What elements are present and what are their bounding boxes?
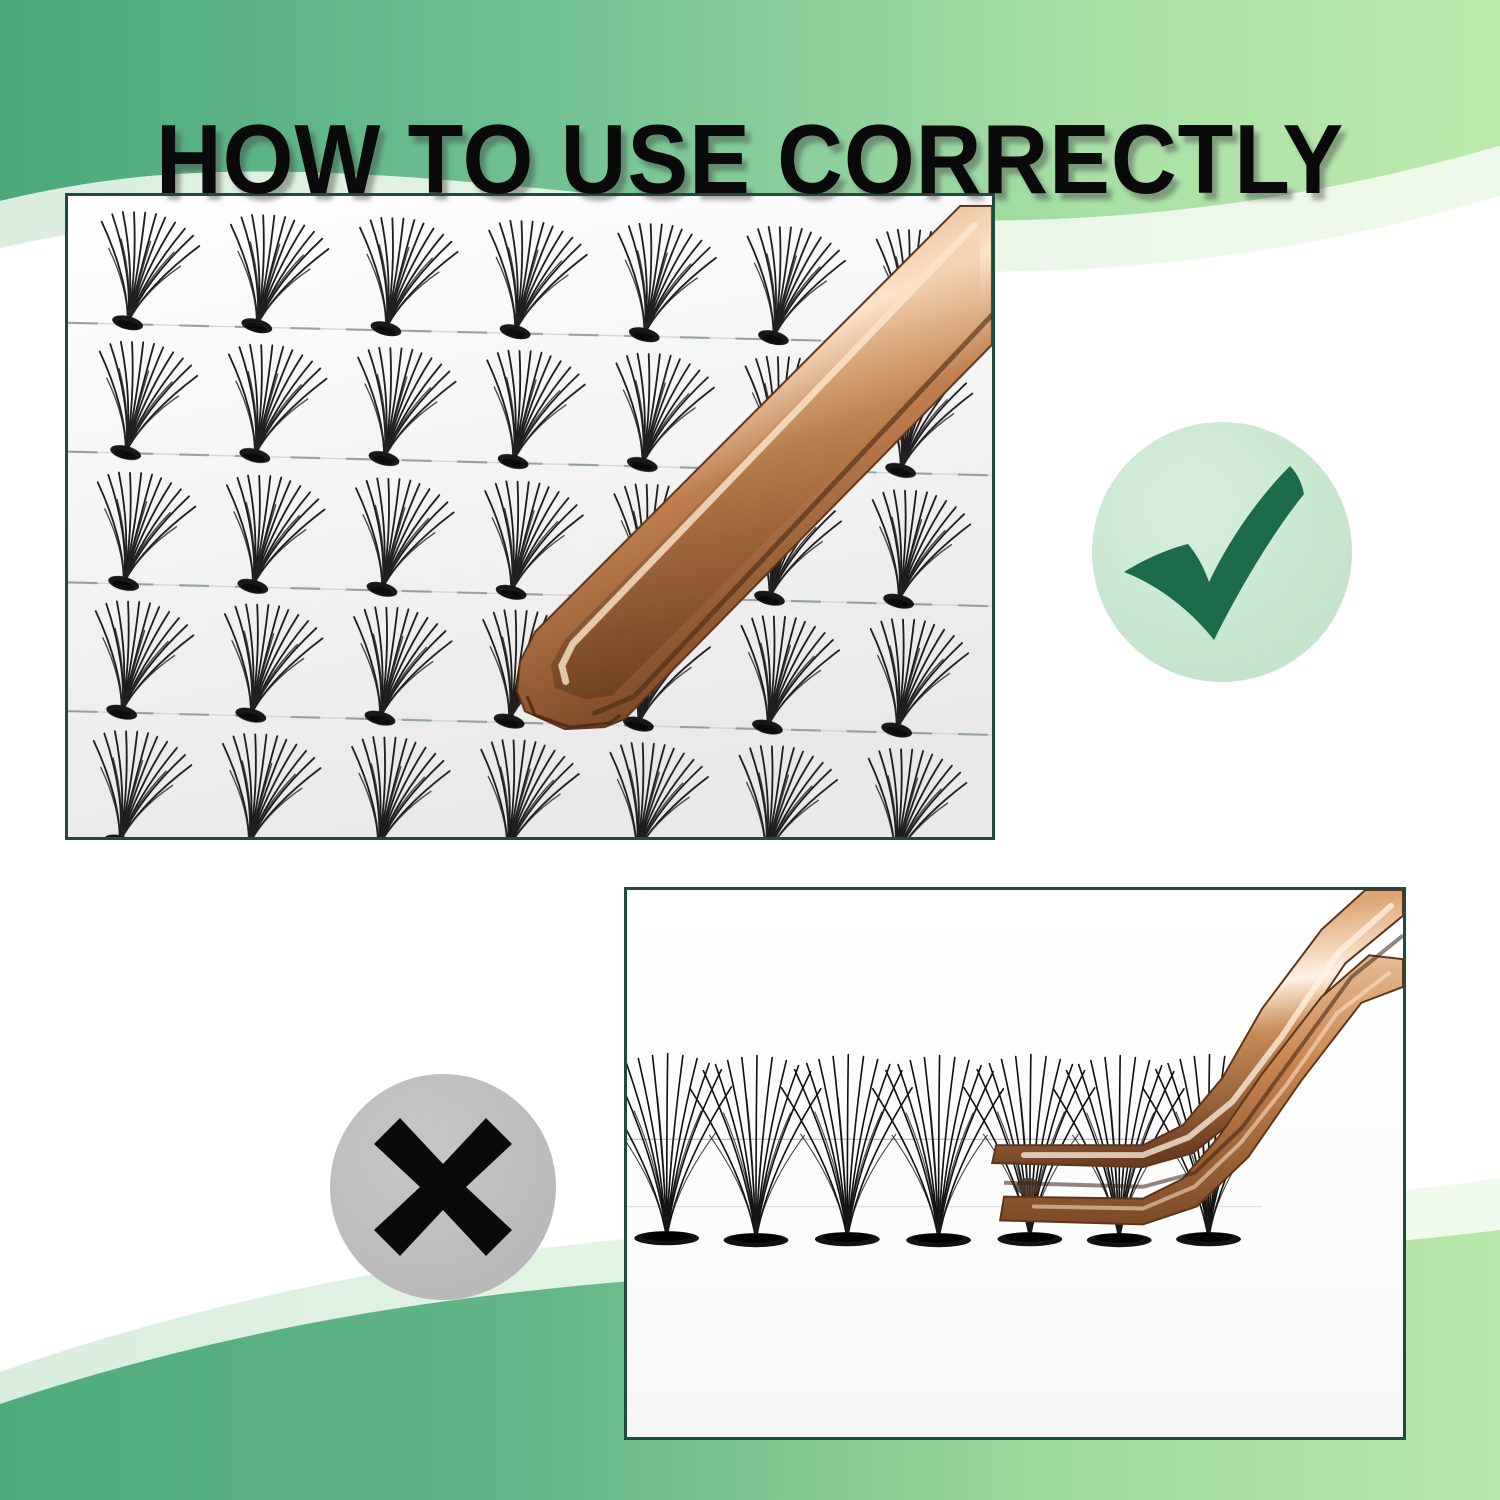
- lash-clusters-side-view: [627, 890, 1403, 1437]
- infographic-poster: HOW TO USE CORRECTLY: [0, 0, 1500, 1500]
- glue-speck: [1016, 1178, 1040, 1196]
- cross-mark-icon: [330, 1074, 556, 1300]
- page-title: HOW TO USE CORRECTLY: [53, 110, 1448, 208]
- check-mark-icon: [1092, 422, 1352, 682]
- correct-check-badge: [1092, 422, 1352, 682]
- incorrect-cross-badge: [330, 1074, 556, 1300]
- correct-usage-photo: [65, 193, 995, 840]
- lash-tray-top-view: [68, 196, 992, 837]
- incorrect-usage-photo: [624, 887, 1406, 1440]
